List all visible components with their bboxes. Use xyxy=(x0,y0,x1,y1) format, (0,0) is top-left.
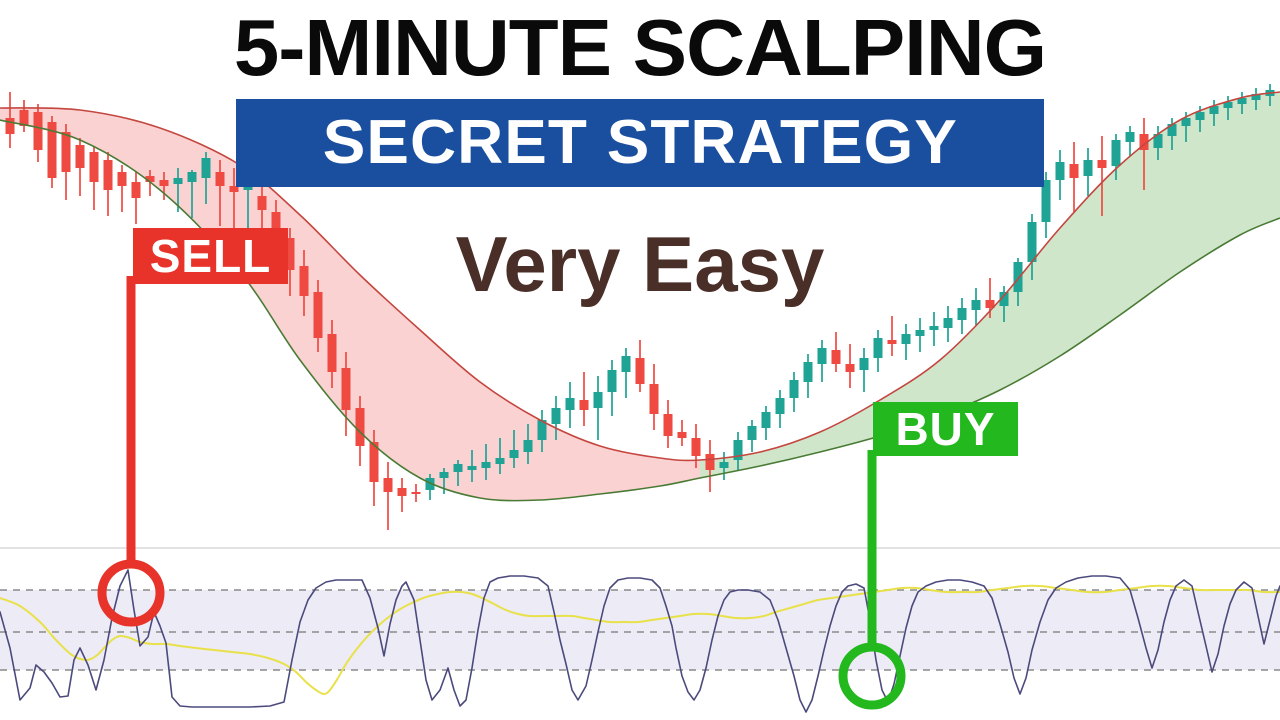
candle-body xyxy=(6,118,15,134)
candle-body xyxy=(902,334,911,344)
candle-body xyxy=(132,182,141,198)
thumbnail-canvas: 5-MINUTE SCALPING SECRET STRATEGY Very E… xyxy=(0,0,1280,720)
candle-body xyxy=(930,326,939,330)
secret-strategy-banner: SECRET STRATEGY xyxy=(236,99,1044,187)
candle-body xyxy=(34,112,43,150)
candle-body xyxy=(90,152,99,182)
candle-body xyxy=(832,350,841,364)
candle-body xyxy=(62,132,71,172)
candle-body xyxy=(622,356,631,372)
candle-body xyxy=(1070,164,1079,178)
candle-body xyxy=(944,318,953,328)
candle-body xyxy=(188,172,197,182)
candle-body xyxy=(524,440,533,452)
candle-body xyxy=(216,172,225,186)
candle-body xyxy=(104,160,113,190)
candle-body xyxy=(1126,132,1135,142)
candle-body xyxy=(1084,160,1093,176)
candle-body xyxy=(510,450,519,458)
candle-body xyxy=(706,454,715,470)
candle-body xyxy=(468,466,477,470)
candle-body xyxy=(1098,160,1107,168)
candle-body xyxy=(454,464,463,472)
candle-body xyxy=(552,408,561,424)
candle-body xyxy=(398,488,407,496)
candle-body xyxy=(720,462,729,468)
candle-body xyxy=(874,338,883,358)
candle-body xyxy=(748,426,757,440)
candle-body xyxy=(1112,140,1121,166)
candle-body xyxy=(482,462,491,468)
candle-body xyxy=(692,438,701,456)
candle-body xyxy=(762,412,771,428)
candle-body xyxy=(860,358,869,370)
candle-body xyxy=(412,492,421,494)
candle-body xyxy=(594,392,603,408)
candle-body xyxy=(580,400,589,410)
page-title: 5-MINUTE SCALPING xyxy=(0,6,1280,90)
candle-body xyxy=(804,362,813,382)
candle-body xyxy=(440,472,449,478)
candle-body xyxy=(846,364,855,372)
candle-body xyxy=(174,178,183,184)
candle-body xyxy=(258,196,267,210)
candle-body xyxy=(678,432,687,438)
candle-body xyxy=(384,478,393,492)
candle-body xyxy=(1196,112,1205,120)
candle-body xyxy=(636,358,645,384)
candle-body xyxy=(160,180,169,186)
candle-body xyxy=(202,158,211,178)
buy-signal-tag: BUY xyxy=(873,402,1018,456)
candle-body xyxy=(818,348,827,364)
candle-body xyxy=(650,384,659,414)
oscillator-zone-band xyxy=(0,590,1280,670)
buy-signal-label: BUY xyxy=(895,402,995,456)
candle-body xyxy=(776,398,785,414)
sell-signal-label: SELL xyxy=(150,229,272,283)
candle-body xyxy=(608,370,617,392)
candle-body xyxy=(664,414,673,436)
candle-body xyxy=(342,368,351,410)
candle-body xyxy=(76,145,85,168)
candle-body xyxy=(356,408,365,446)
candle-body xyxy=(328,334,337,372)
candle-body xyxy=(916,330,925,336)
candle-body xyxy=(790,380,799,398)
sell-signal-tag: SELL xyxy=(133,228,288,284)
candle-body xyxy=(888,340,897,344)
candle-body xyxy=(118,172,127,186)
candle-body xyxy=(1056,162,1065,180)
banner-label: SECRET STRATEGY xyxy=(322,112,957,174)
candle-body xyxy=(566,398,575,410)
candle-body xyxy=(496,458,505,464)
